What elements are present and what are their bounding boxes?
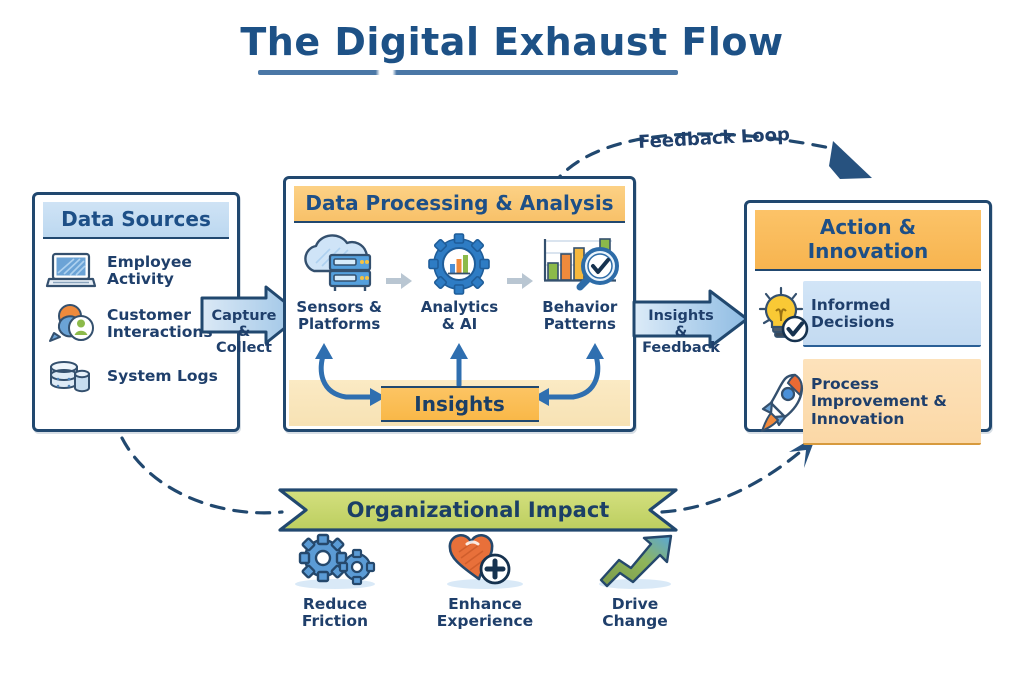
list-item-label: CustomerInteractions: [107, 307, 213, 342]
gear-chart-icon: [412, 233, 506, 295]
growth-arrow-icon: [570, 534, 700, 590]
impact-item-row: ReduceFriction EnhanceExper: [270, 534, 700, 631]
title-underline: [258, 70, 678, 75]
processing-item[interactable]: BehaviorPatterns: [533, 233, 627, 332]
database-icon: [45, 357, 97, 397]
list-item-label: Process Improvement & Innovation: [811, 376, 947, 429]
list-item-label: EmployeeActivity: [107, 254, 192, 289]
chat-bubbles-person-icon: [45, 303, 97, 345]
capture-collect-label: Capture &Collect: [205, 308, 283, 357]
list-item[interactable]: System Logs: [45, 357, 237, 397]
list-item-label: System Logs: [107, 368, 218, 385]
barchart-magnifier-icon: [533, 233, 627, 295]
heart-plus-icon: [420, 534, 550, 590]
lightbulb-check-icon: [755, 285, 803, 343]
processing-item[interactable]: Analytics& AI: [412, 233, 506, 332]
processing-item-label: BehaviorPatterns: [533, 299, 627, 332]
insights-badge[interactable]: Insights: [381, 386, 539, 422]
impact-item-label: ReduceFriction: [270, 596, 400, 631]
panel-data-processing-header: Data Processing & Analysis: [294, 186, 625, 223]
impact-item[interactable]: ReduceFriction: [270, 534, 400, 631]
sources-to-impact-curve: [122, 438, 282, 513]
list-item[interactable]: Process Improvement & Innovation: [755, 357, 981, 447]
impact-item-label: EnhanceExperience: [420, 596, 550, 631]
impact-item[interactable]: EnhanceExperience: [420, 534, 550, 631]
impact-item-label: DriveChange: [570, 596, 700, 631]
laptop-icon: [45, 251, 97, 291]
page-title: The Digital Exhaust Flow: [0, 20, 1024, 64]
panel-action-innovation: Action & Innovation: [744, 200, 992, 432]
impact-item[interactable]: DriveChange: [570, 534, 700, 631]
panel-data-sources-header: Data Sources: [43, 202, 229, 239]
rocket-icon: [755, 369, 803, 435]
feedback-loop-arrowhead: [829, 141, 872, 179]
list-item[interactable]: InformedDecisions: [755, 279, 981, 349]
cloud-server-icon: [292, 233, 386, 295]
organizational-impact-label: Organizational Impact: [278, 488, 678, 532]
diagram-canvas: The Digital Exhaust Flow Feedback Loop D…: [0, 0, 1024, 683]
processing-item[interactable]: Sensors &Platforms: [292, 233, 386, 332]
processing-item-row: Sensors &Platforms: [286, 233, 633, 332]
feedback-loop-label: Feedback Loop: [624, 123, 805, 153]
gears-icon: [270, 534, 400, 590]
organizational-impact-banner[interactable]: Organizational Impact: [278, 488, 678, 532]
insights-feedback-label: Insights &Feedback: [640, 308, 722, 357]
impact-to-action-curve: [662, 447, 806, 512]
flow-arrow-icon: [386, 273, 412, 289]
processing-item-label: Sensors &Platforms: [292, 299, 386, 332]
flow-arrow-icon: [507, 273, 533, 289]
list-item-label: InformedDecisions: [811, 297, 894, 332]
panel-data-processing: Data Processing & Analysis: [283, 176, 636, 432]
processing-item-label: Analytics& AI: [412, 299, 506, 332]
panel-action-innovation-header: Action & Innovation: [755, 210, 981, 271]
